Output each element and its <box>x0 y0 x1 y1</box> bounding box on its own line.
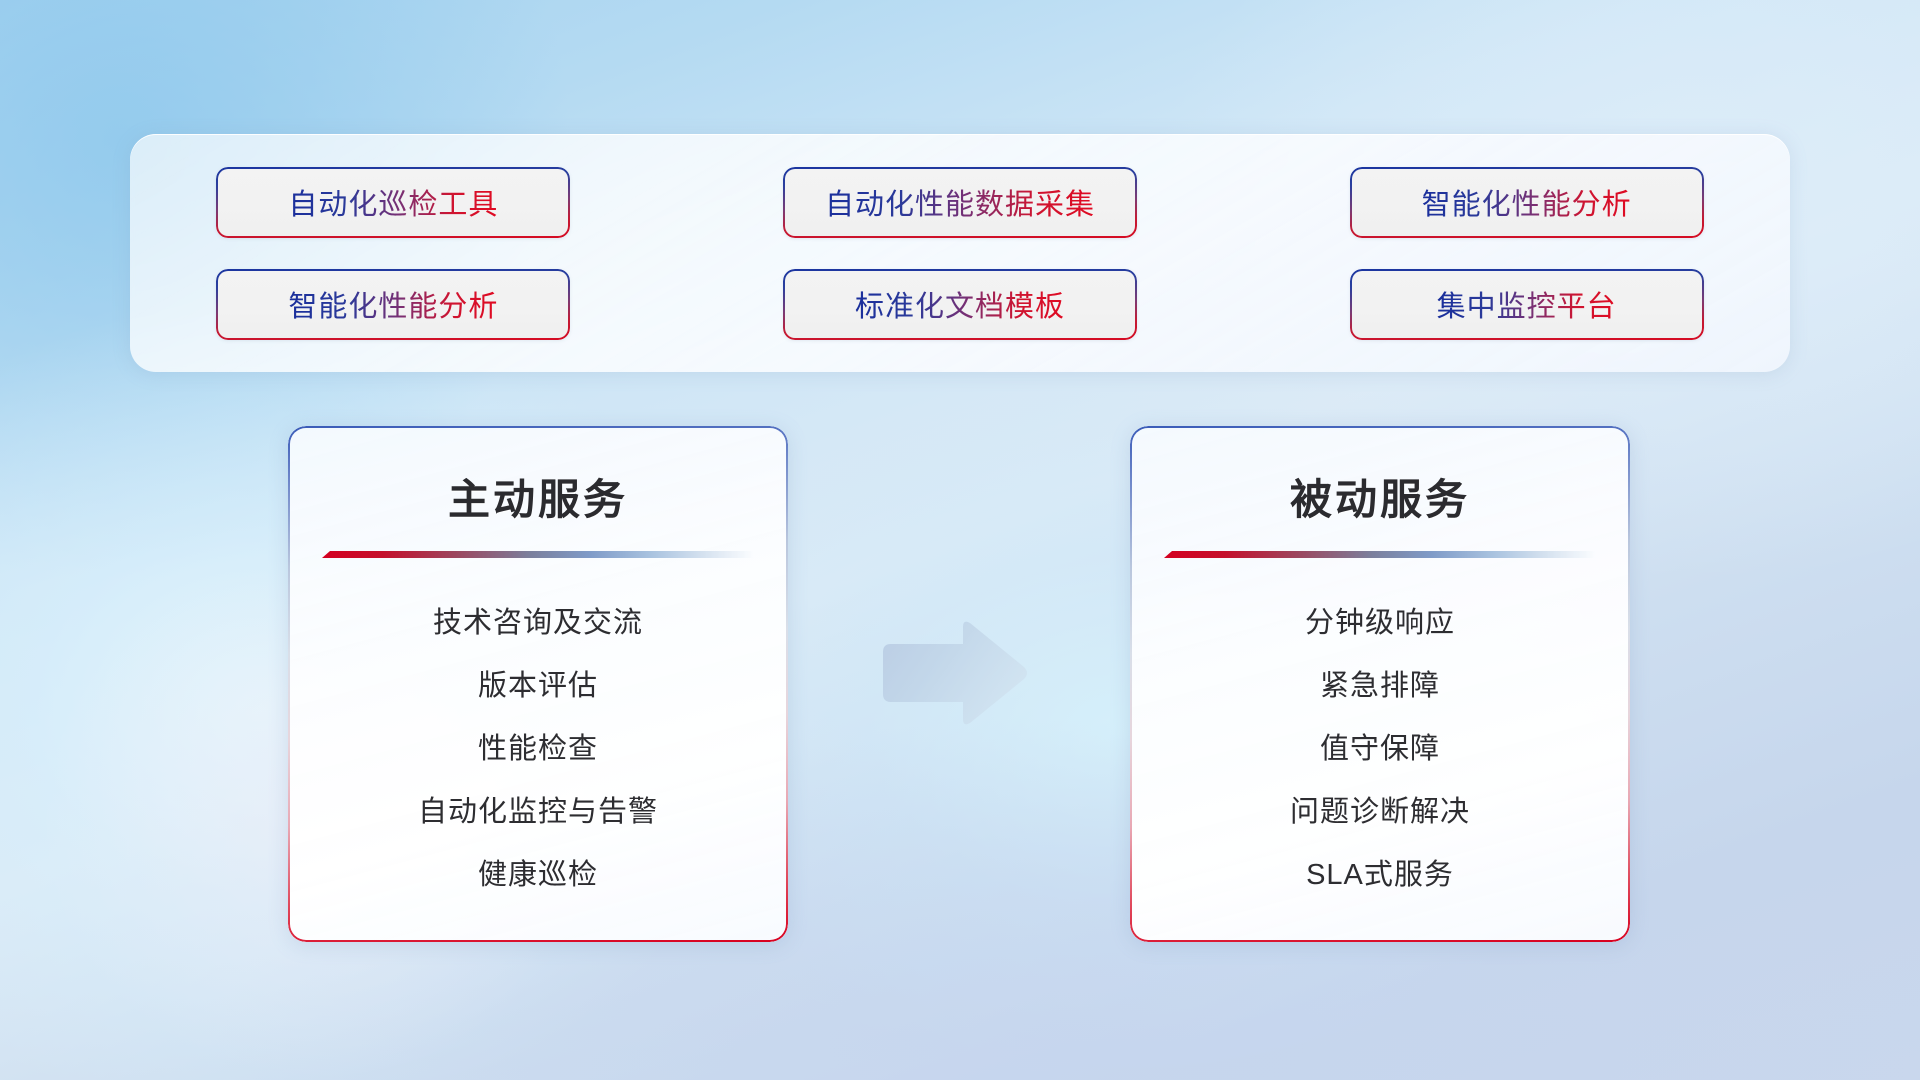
capability-chip-label: 集中监控平台 <box>1437 283 1617 325</box>
capability-chip-label: 标准化文档模板 <box>855 283 1065 325</box>
list-item: 技术咨询及交流 <box>288 592 788 655</box>
capability-chip-2[interactable]: 自动化性能数据采集 <box>783 167 1137 238</box>
service-item-list: 分钟级响应 紧急排障 值守保障 问题诊断解决 SLA式服务 <box>1130 558 1630 907</box>
capability-chip-label: 智能化性能分析 <box>1422 181 1632 223</box>
capability-chip-label: 自动化巡检工具 <box>288 181 498 223</box>
arrow-right-icon <box>877 618 1029 728</box>
list-item: 健康巡检 <box>288 844 788 907</box>
capability-panel: 自动化巡检工具 自动化性能数据采集 智能化性能分析 智能化性能分析 标准化文档模… <box>130 134 1790 372</box>
list-item: 版本评估 <box>288 655 788 718</box>
capability-chip-label: 智能化性能分析 <box>288 283 498 325</box>
list-item: 问题诊断解决 <box>1130 781 1630 844</box>
list-item: SLA式服务 <box>1130 844 1630 907</box>
list-item: 分钟级响应 <box>1130 592 1630 655</box>
capability-chip-1[interactable]: 自动化巡检工具 <box>216 167 570 238</box>
service-card-title: 主动服务 <box>288 426 788 527</box>
service-card-title: 被动服务 <box>1130 426 1630 527</box>
capability-chip-4[interactable]: 智能化性能分析 <box>216 269 570 340</box>
capability-chip-5[interactable]: 标准化文档模板 <box>783 269 1137 340</box>
service-card-reactive: 被动服务 分钟级响应 紧急排障 值守保障 问题诊断解决 SLA式服务 <box>1130 426 1630 942</box>
list-item: 紧急排障 <box>1130 655 1630 718</box>
capability-chip-label: 自动化性能数据采集 <box>825 181 1095 223</box>
capability-chip-6[interactable]: 集中监控平台 <box>1350 269 1704 340</box>
list-item: 性能检查 <box>288 718 788 781</box>
list-item: 自动化监控与告警 <box>288 781 788 844</box>
capability-chip-grid: 自动化巡检工具 自动化性能数据采集 智能化性能分析 智能化性能分析 标准化文档模… <box>130 134 1790 372</box>
title-divider <box>1164 551 1596 558</box>
slide-canvas: 自动化巡检工具 自动化性能数据采集 智能化性能分析 智能化性能分析 标准化文档模… <box>0 0 1920 1080</box>
capability-chip-3[interactable]: 智能化性能分析 <box>1350 167 1704 238</box>
service-item-list: 技术咨询及交流 版本评估 性能检查 自动化监控与告警 健康巡检 <box>288 558 788 907</box>
list-item: 值守保障 <box>1130 718 1630 781</box>
service-card-proactive: 主动服务 技术咨询及交流 版本评估 性能检查 自动化监控与告警 健康巡检 <box>288 426 788 942</box>
title-divider <box>322 551 754 558</box>
